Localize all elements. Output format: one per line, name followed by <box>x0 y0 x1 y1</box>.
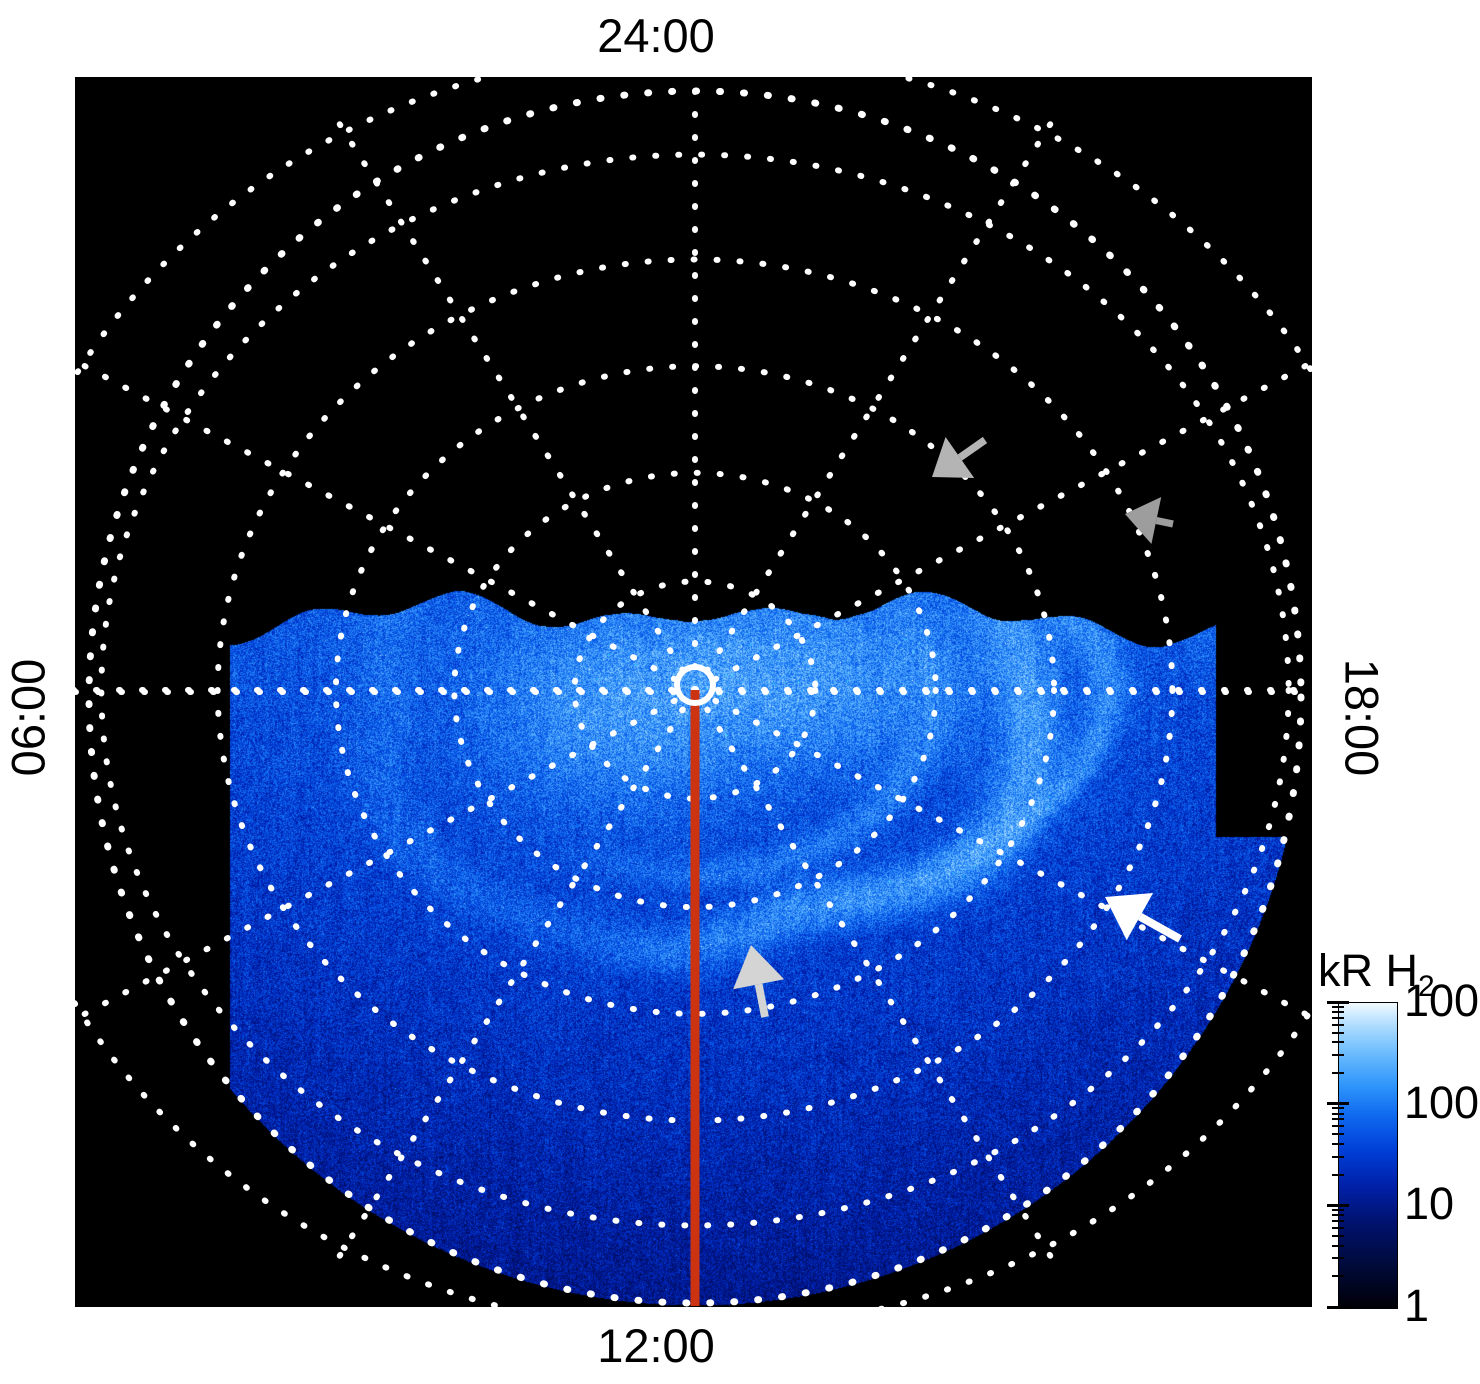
annotation-arrow-white-bright-arc <box>1105 893 1180 940</box>
arrow-tail <box>759 984 765 1017</box>
colorbar-minor-tick <box>1338 1041 1344 1043</box>
colorbar-minor-tick <box>1338 1275 1344 1277</box>
colorbar-major-tick <box>1338 1306 1349 1309</box>
colorbar-gradient <box>1338 1002 1398 1309</box>
axis-label-bottom: 12:00 <box>0 1318 1312 1373</box>
colorbar-minor-tick <box>1338 1214 1344 1216</box>
axis-label-right: 18:00 <box>1335 608 1390 828</box>
colorbar-major-tick <box>1327 1306 1338 1309</box>
colorbar-minor-tick <box>1338 1006 1344 1008</box>
colorbar-major-tick <box>1338 1204 1349 1207</box>
colorbar-minor-tick <box>1338 1209 1344 1211</box>
colorbar-major-tick <box>1338 1102 1349 1105</box>
annotation-arrow-grey-lower <box>733 945 784 1017</box>
colorbar-title-text: kR H <box>1318 945 1418 996</box>
arrow-tail <box>1156 521 1173 524</box>
axis-label-top: 24:00 <box>0 8 1312 63</box>
annotation-arrow-grey-upper-1 <box>932 437 985 478</box>
colorbar-minor-tick <box>1338 1125 1344 1127</box>
colorbar-tick-label: 10 <box>1404 1181 1454 1226</box>
arrow-tail <box>1140 917 1180 939</box>
annotation-arrows <box>75 77 1312 1307</box>
colorbar-minor-tick <box>1338 1220 1344 1222</box>
colorbar-major-tick <box>1327 1001 1338 1004</box>
annotation-arrow-grey-upper-2 <box>1125 497 1173 544</box>
arrow-tail <box>960 440 985 458</box>
colorbar-minor-tick <box>1338 1174 1344 1176</box>
colorbar-minor-tick <box>1338 1032 1344 1034</box>
colorbar-minor-tick <box>1338 1156 1344 1158</box>
axis-label-left: 06:00 <box>1 608 56 828</box>
colorbar-minor-tick <box>1338 1118 1344 1120</box>
colorbar-minor-tick <box>1338 1072 1344 1074</box>
colorbar-minor-tick <box>1338 1257 1344 1259</box>
colorbar-major-tick <box>1327 1102 1338 1105</box>
colorbar-minor-tick <box>1338 1235 1344 1237</box>
colorbar-minor-tick <box>1338 1143 1344 1145</box>
arrow-head <box>1125 497 1161 544</box>
colorbar-minor-tick <box>1338 1017 1344 1019</box>
arrow-head <box>733 945 784 989</box>
colorbar-major-tick <box>1327 1204 1338 1207</box>
colorbar-minor-tick <box>1338 1245 1344 1247</box>
colorbar-tick-label: 100 <box>1404 1080 1479 1125</box>
colorbar-minor-tick <box>1338 1024 1344 1026</box>
colorbar-tick-label: 1000 <box>1404 978 1480 1023</box>
colorbar-major-tick <box>1338 1001 1349 1004</box>
colorbar-tick-label: 1 <box>1404 1283 1429 1328</box>
figure-root: 24:00 12:00 06:00 18:00 kR H2 1000100101 <box>0 0 1480 1384</box>
arrow-head <box>932 437 974 478</box>
colorbar-minor-tick <box>1338 1113 1344 1115</box>
colorbar-minor-tick <box>1338 1227 1344 1229</box>
colorbar-minor-tick <box>1338 1133 1344 1135</box>
colorbar-minor-tick <box>1338 1054 1344 1056</box>
colorbar-minor-tick <box>1338 1107 1344 1109</box>
colorbar-minor-tick <box>1338 1011 1344 1013</box>
polar-aurora-plot <box>75 77 1312 1307</box>
